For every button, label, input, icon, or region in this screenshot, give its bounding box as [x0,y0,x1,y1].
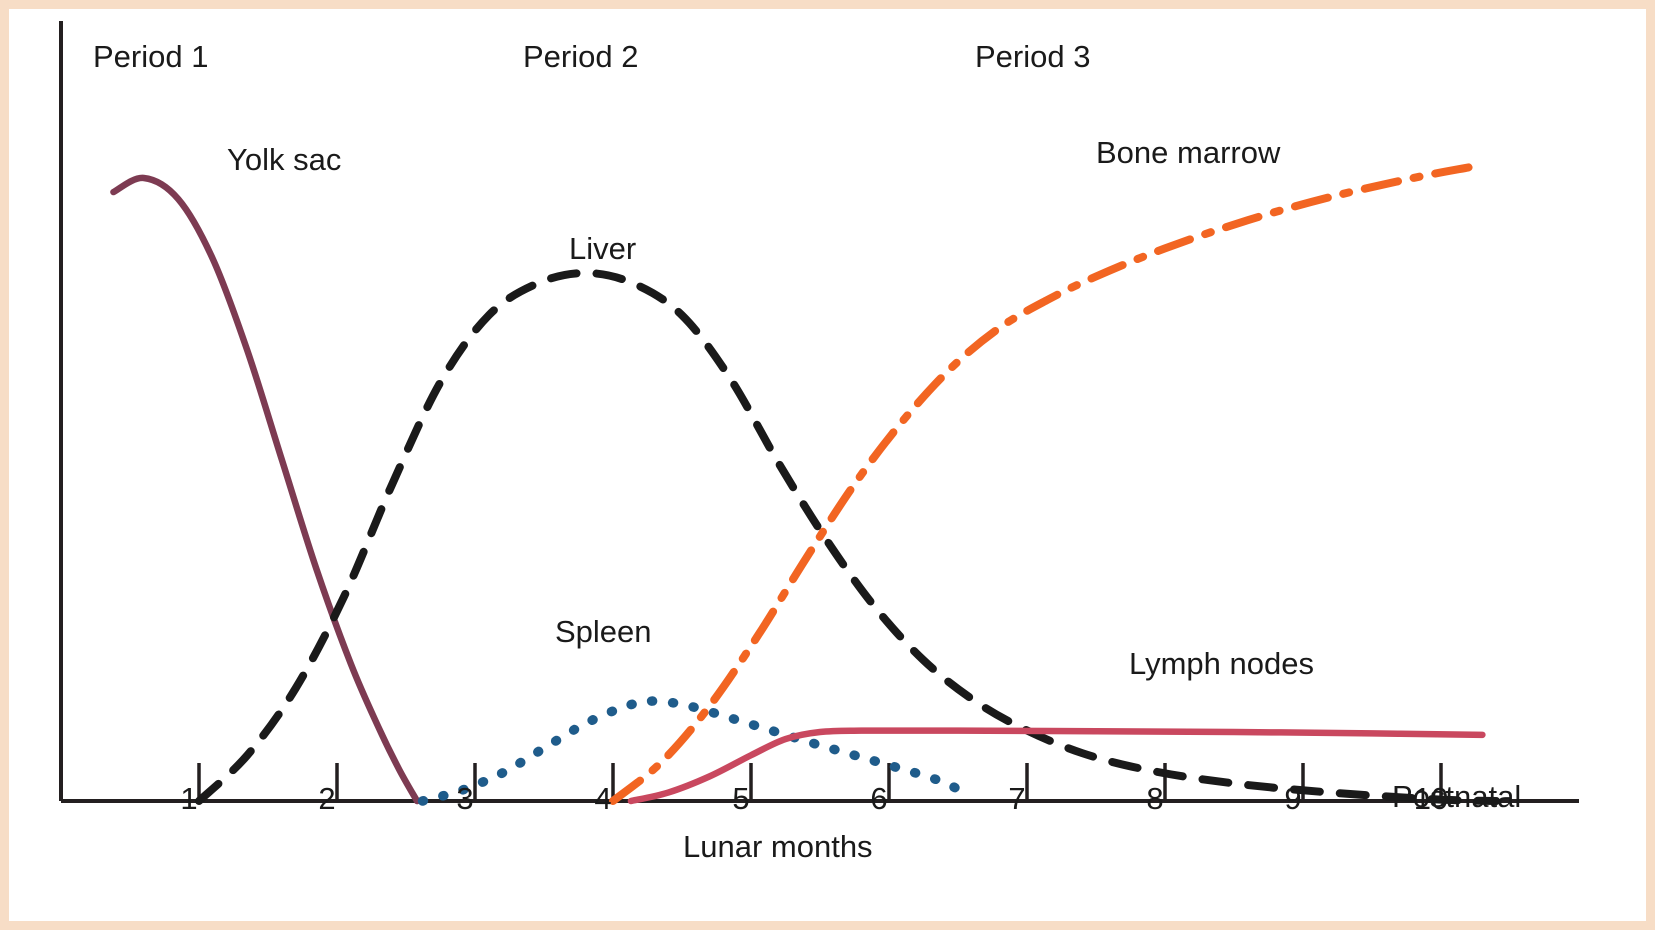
x-tick-label-7: 7 [1008,781,1025,817]
chart-series-group [113,167,1496,801]
x-tick-label-2: 2 [318,781,335,817]
series-label-bone-marrow: Bone marrow [1096,135,1280,171]
series-label-lymph-nodes: Lymph nodes [1129,646,1314,682]
postnatal-label: Postnatal [1392,779,1521,815]
series-curve-yolk-sac [113,178,417,801]
x-tick-label-6: 6 [870,781,887,817]
series-label-spleen: Spleen [555,614,652,650]
period-label-3: Period 3 [975,39,1090,75]
x-axis-title: Lunar months [683,829,873,865]
series-curve-bone-marrow [613,167,1469,801]
x-tick-label-9: 9 [1284,781,1301,817]
figure-container: Period 1 Period 2 Period 3 Yolk sac Live… [0,0,1655,930]
x-tick-label-8: 8 [1146,781,1163,817]
x-tick-label-4: 4 [594,781,611,817]
period-label-1: Period 1 [93,39,208,75]
series-label-liver: Liver [569,231,636,267]
series-curve-liver [199,273,1496,801]
x-tick-label-3: 3 [456,781,473,817]
x-tick-label-1: 1 [180,781,197,817]
x-axis-ticks [199,763,1441,799]
x-tick-label-5: 5 [732,781,749,817]
period-label-2: Period 2 [523,39,638,75]
series-label-yolk-sac: Yolk sac [227,142,341,178]
